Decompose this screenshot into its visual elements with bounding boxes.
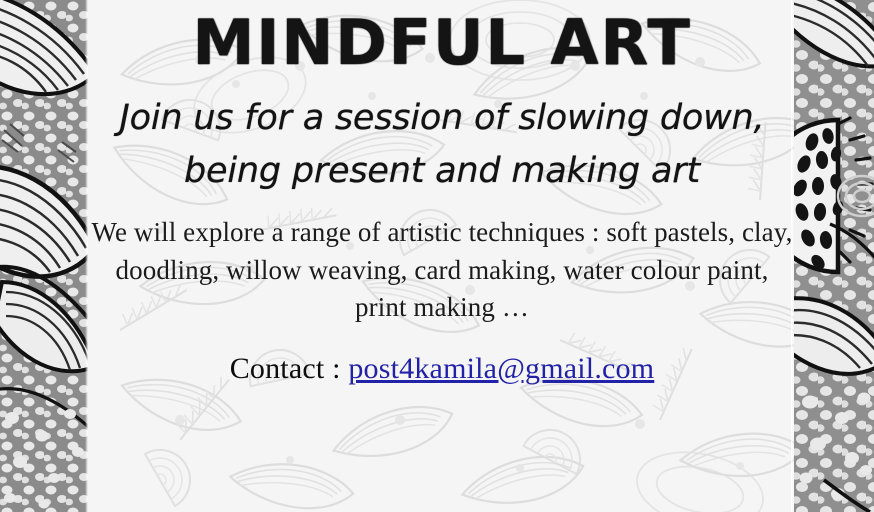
mindful-art-poster: MINDFUL ART Join us for a session of slo… xyxy=(0,0,874,512)
left-decorative-border xyxy=(0,0,88,512)
poster-content: MINDFUL ART Join us for a session of slo… xyxy=(90,0,794,512)
contact-label: Contact : xyxy=(230,352,341,385)
contact-line: Contact : post4kamila@gmail.com xyxy=(90,326,794,386)
contact-email-link[interactable]: post4kamila@gmail.com xyxy=(348,352,654,385)
poster-title: MINDFUL ART xyxy=(90,0,794,74)
right-decorative-border xyxy=(794,0,874,512)
poster-subtitle: Join us for a session of slowing down, b… xyxy=(90,74,794,198)
poster-body-text: We will explore a range of artistic tech… xyxy=(90,198,794,326)
